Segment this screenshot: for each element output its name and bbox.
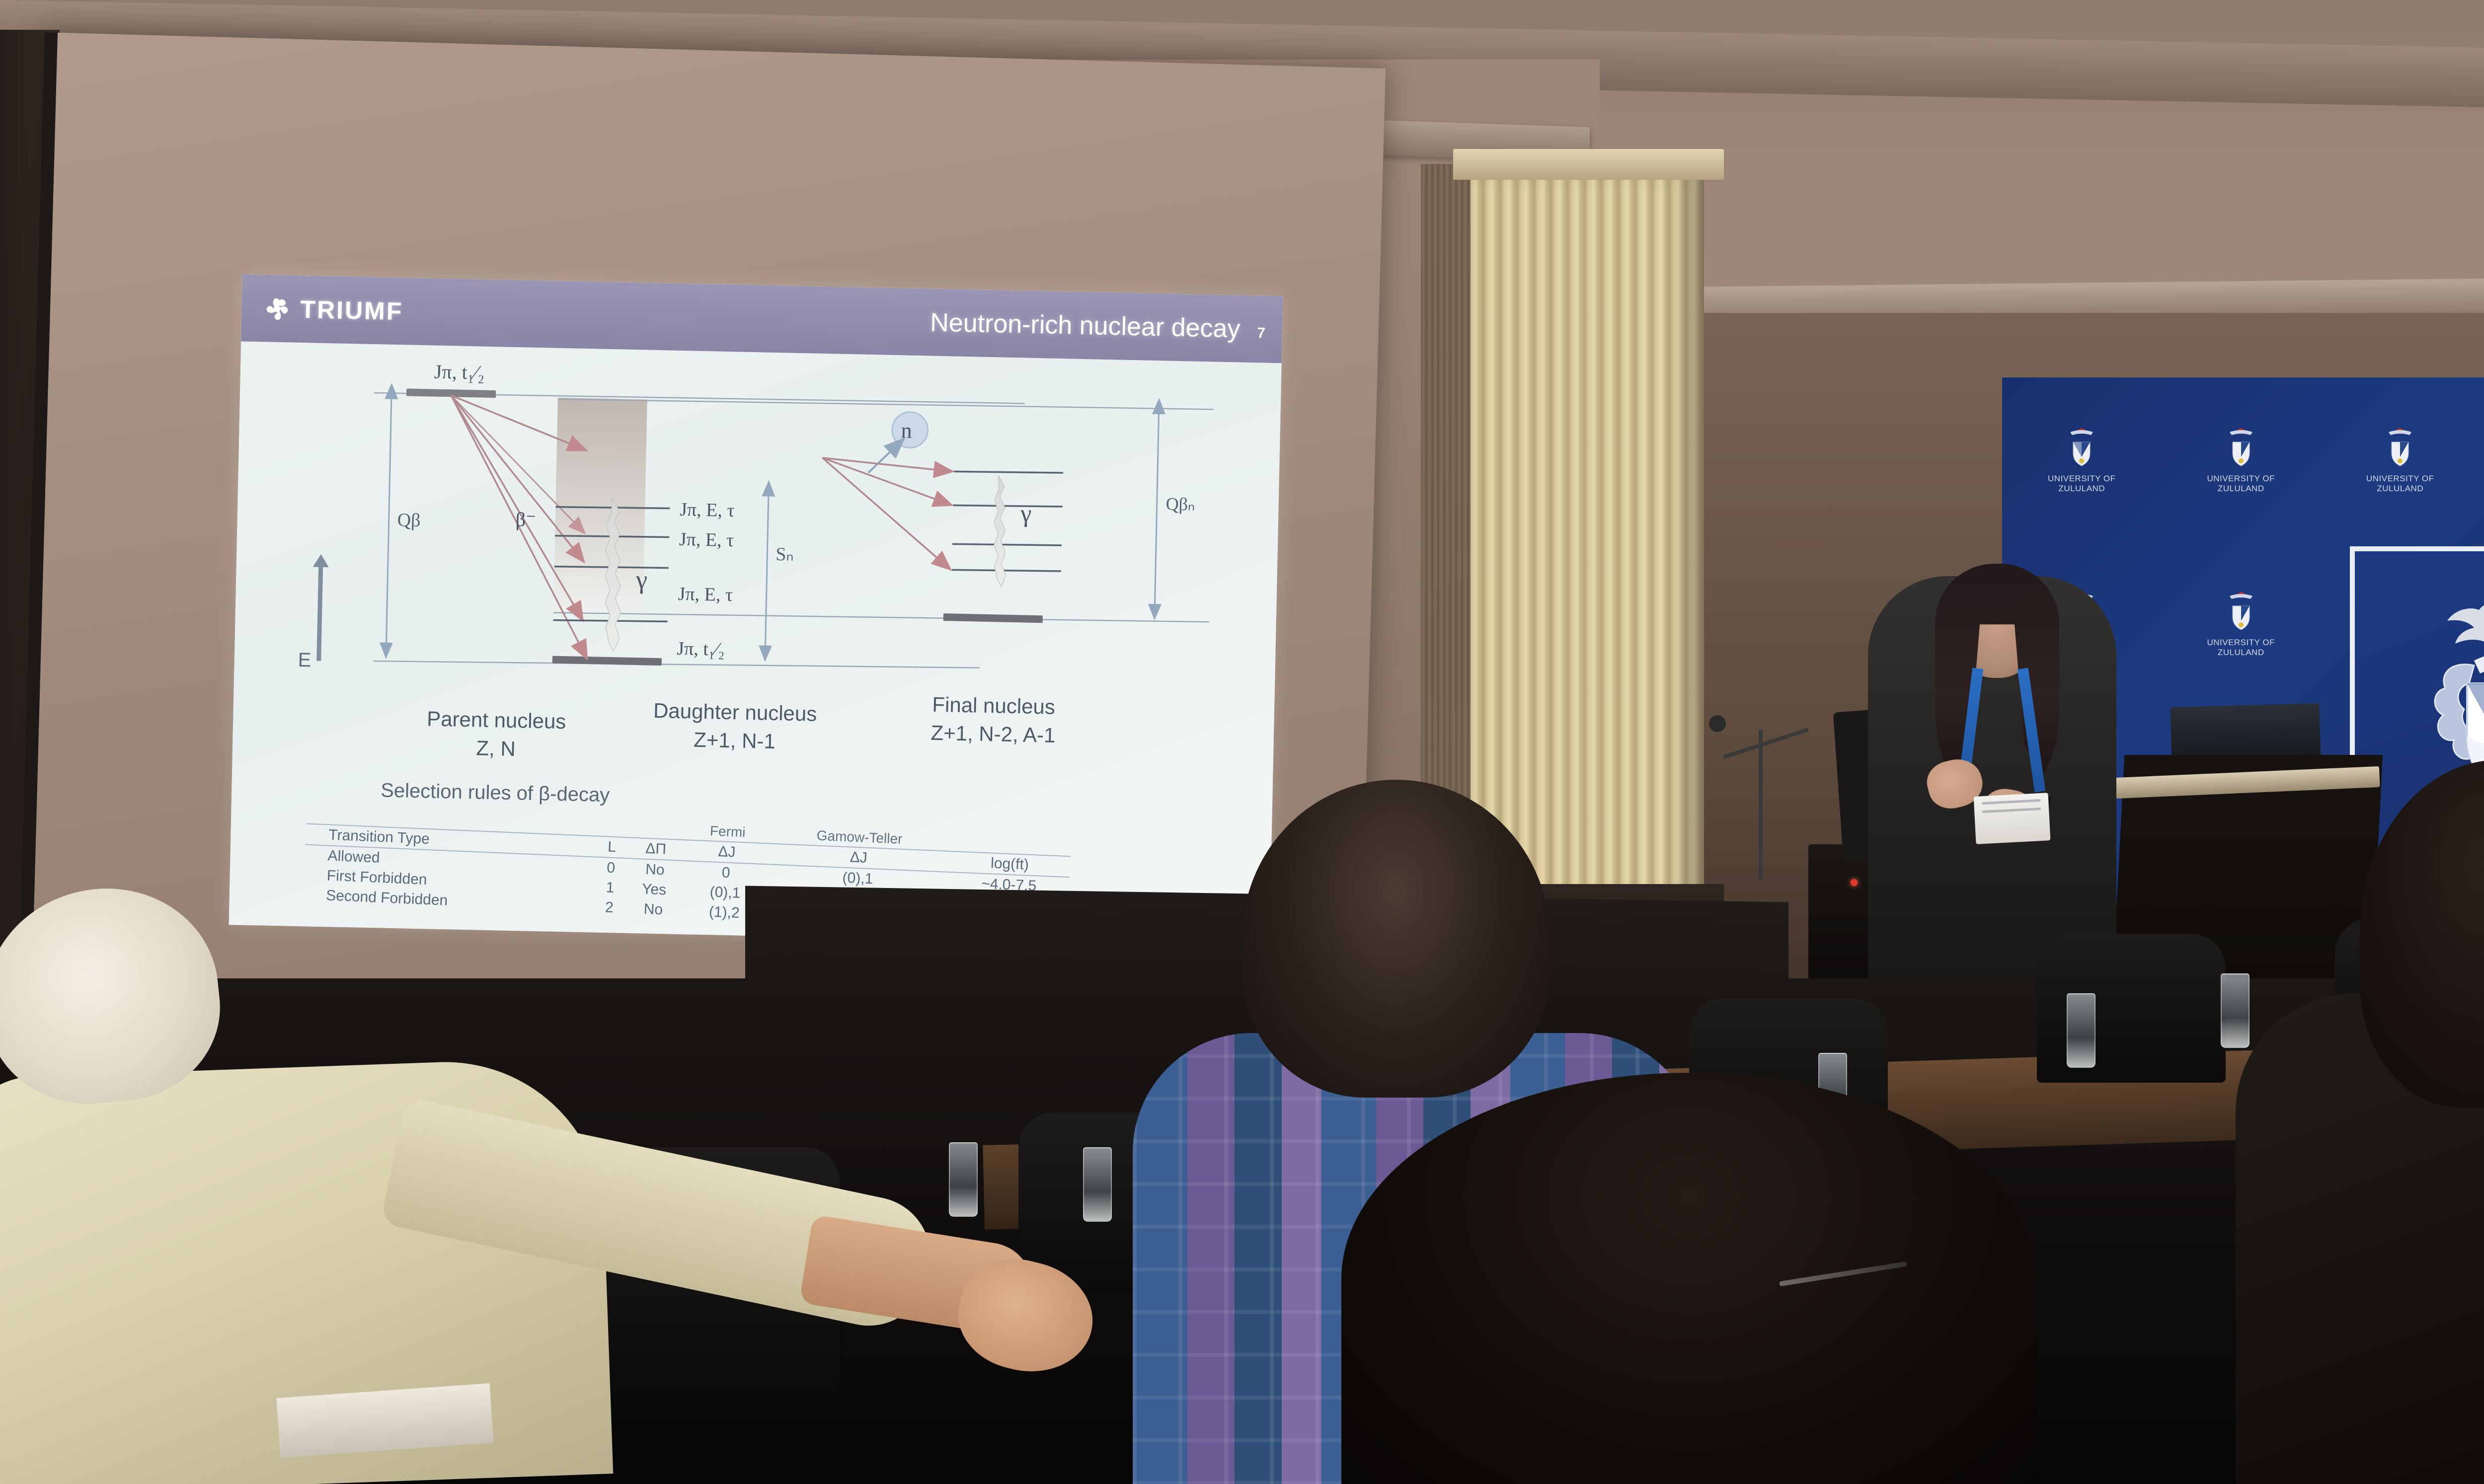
column-capital [1453, 149, 1724, 180]
crest-label: UNIVERSITY OF ZULULAND [2366, 474, 2434, 493]
water-glass [2221, 973, 2250, 1048]
microphone-stand [1759, 730, 1763, 879]
triumf-logo: TRIUMF [261, 293, 403, 327]
neutron-label: n [901, 418, 912, 443]
audience-member-plaid-head [1242, 780, 1550, 1098]
nucleus-composition-final: Z+1, N-2, A-1 [863, 717, 1122, 751]
column-header-delta-pi: ΔΠ [625, 837, 686, 861]
crest-label: UNIVERSITY OF ZULULAND [2207, 474, 2275, 493]
cell-delta-pi: Yes [624, 879, 685, 901]
parent-level-label: Jπ, t₁⁄₂ [434, 360, 484, 383]
nucleus-name-parent: Parent nucleus [382, 704, 611, 737]
presenter-name-badge [1974, 793, 2051, 844]
cell-L: 2 [595, 897, 623, 918]
water-glass [1083, 1147, 1112, 1222]
triumf-wordmark: TRIUMF [300, 295, 403, 325]
cell-delta-pi: No [623, 898, 684, 921]
slide-page-number: 7 [1257, 325, 1265, 342]
column-header-fermi-dJ: ΔJ [686, 840, 769, 864]
cell-L: 1 [596, 878, 624, 898]
crest-label: UNIVERSITY OF ZULULAND [2048, 474, 2116, 493]
crest-label: UNIVERSITY OF ZULULAND [2207, 638, 2275, 657]
daughter-level-label-1: Jπ, E, τ [680, 499, 735, 521]
power-led-indicator [1851, 879, 1858, 886]
selection-rules-title: Selection rules of β-decay [381, 779, 610, 807]
chair [2037, 934, 2226, 1083]
daughter-level-label-3: Jπ, E, τ [678, 584, 733, 605]
crest-tile: UNIVERSITY OF ZULULAND [2162, 377, 2321, 541]
slide-title: Neutron-rich nuclear decay [930, 307, 1241, 344]
water-glass [949, 1142, 978, 1217]
badge-text-line [1982, 808, 2041, 813]
crest-tile: UNIVERSITY OF ZULULAND [2321, 377, 2480, 541]
cell-L: 0 [597, 857, 625, 879]
nucleus-caption-parent: Parent nucleus Z, N [382, 704, 611, 765]
cell-fermi-dJ: 0 [685, 861, 768, 885]
slide-body: E Jπ, t₁⁄₂ Qβ [229, 341, 1282, 947]
presentation-room-photo: TRIUMF Neutron-rich nuclear decay 7 [0, 0, 2484, 1484]
gamma-label-daughter: γ [635, 566, 648, 594]
audience-member-foreground-silhouette [1341, 1073, 2037, 1484]
microphone-head [1709, 715, 1726, 732]
crest-tile: UNIVERSITY OF ZULULAND [2480, 377, 2484, 541]
nucleus-name-daughter: Daughter nucleus [611, 696, 859, 729]
gamma-label-final: γ [1020, 499, 1032, 527]
beta-minus-label: β⁻ [515, 508, 536, 531]
crest-tile: UNIVERSITY OF ZULULAND [2162, 541, 2321, 705]
q-beta-n-label: Qβₙ [1165, 494, 1195, 514]
nucleus-caption-final: Final nucleus Z+1, N-2, A-1 [863, 689, 1123, 751]
column-header-L: L [597, 836, 626, 858]
nucleus-composition-daughter: Z+1, N-1 [610, 724, 859, 757]
cell-delta-pi: No [624, 858, 685, 881]
badge-text-line [1982, 799, 2040, 805]
triumf-pinwheel-icon [261, 293, 293, 324]
fluted-pilaster-column [1471, 164, 1704, 924]
q-beta-label: Qβ [397, 510, 421, 531]
nucleus-caption-daughter: Daughter nucleus Z+1, N-1 [610, 696, 859, 757]
nucleus-composition-parent: Z, N [382, 732, 611, 765]
water-glass [2067, 993, 2096, 1068]
energy-axis-label: E [298, 649, 311, 671]
daughter-ground-label: Jπ, t₁⁄₂ [677, 638, 725, 660]
daughter-level-label-2: Jπ, E, τ [679, 529, 734, 551]
sn-label: Sₙ [776, 544, 794, 565]
crest-tile: UNIVERSITY OF ZULULAND [2002, 377, 2162, 541]
slide: TRIUMF Neutron-rich nuclear decay 7 [229, 274, 1283, 947]
